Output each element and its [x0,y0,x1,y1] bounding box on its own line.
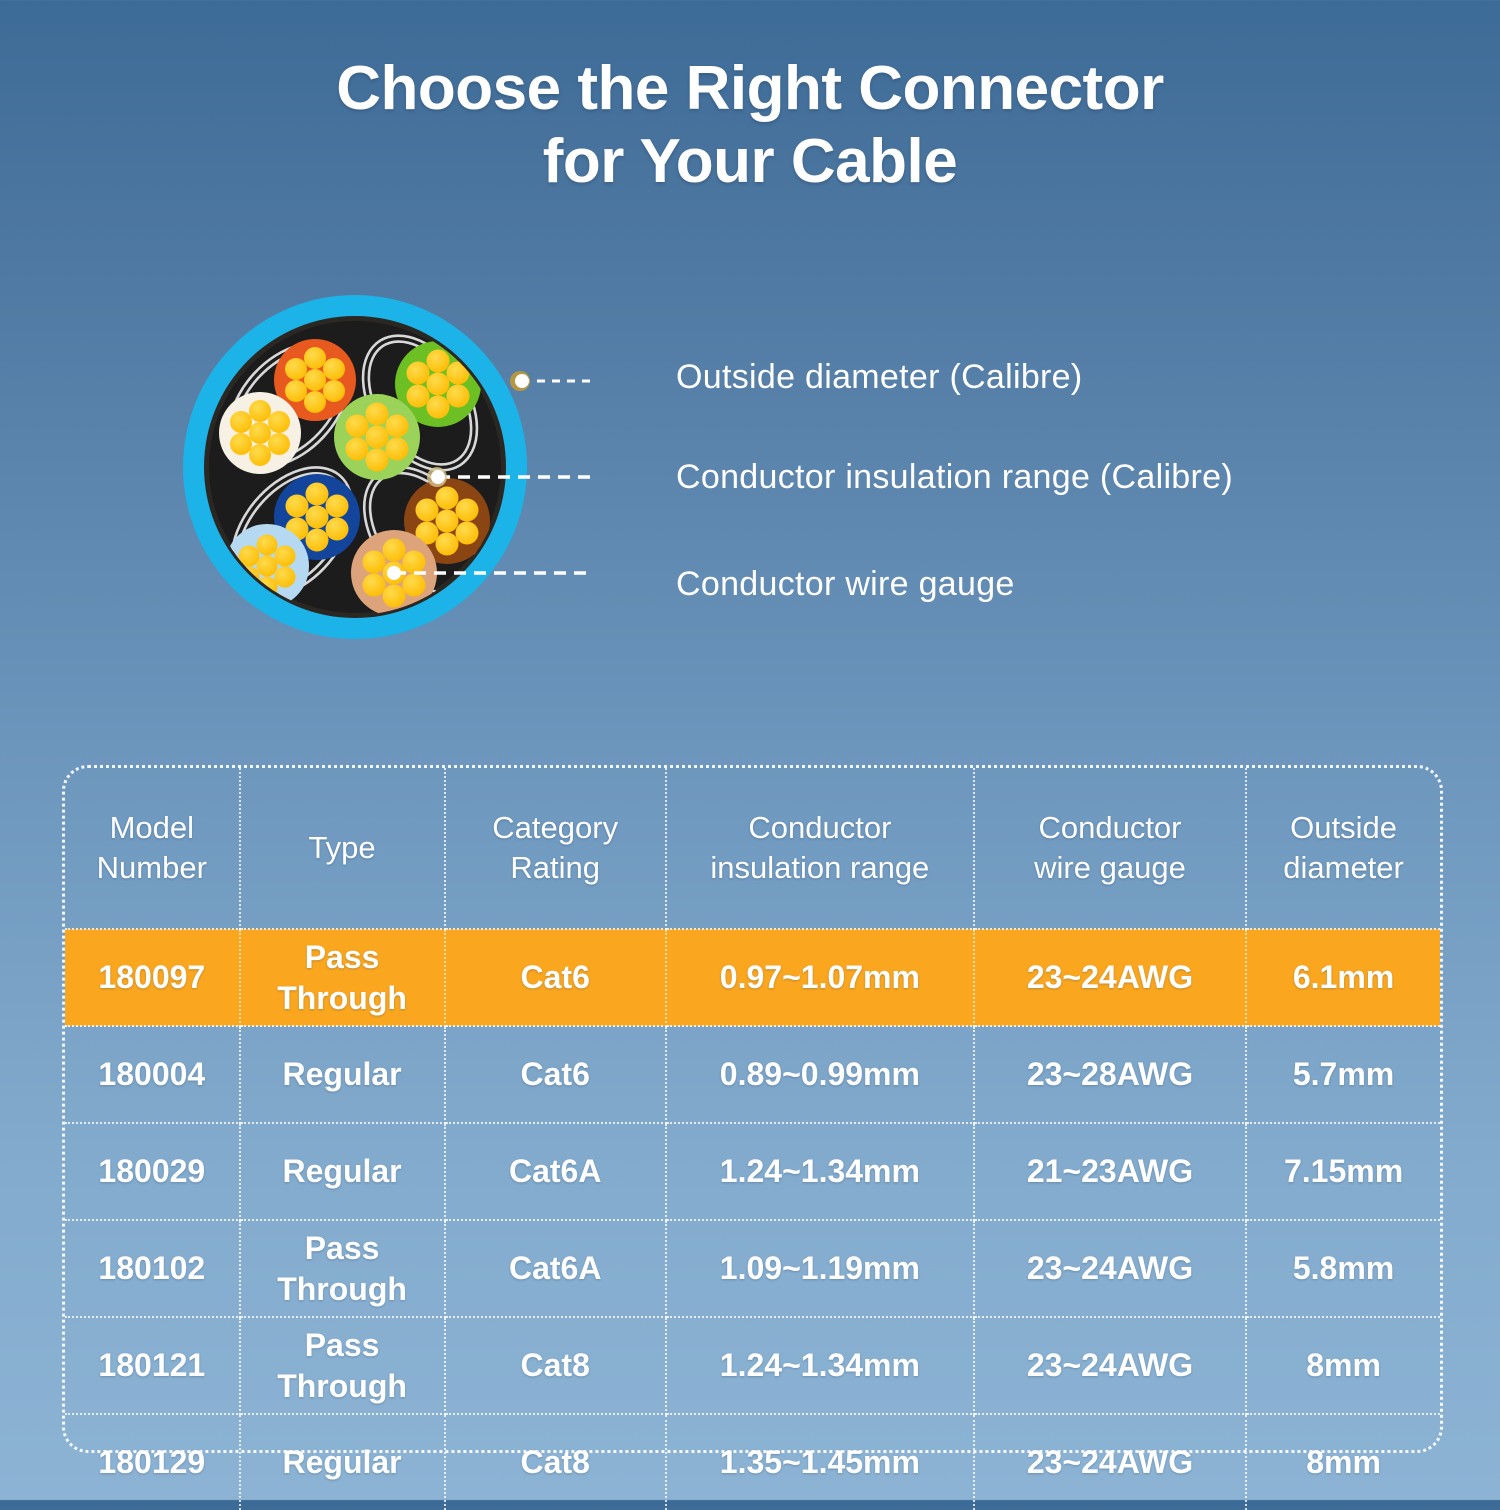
cell-outside-diameter: 8mm [1246,1414,1440,1510]
cell-type: Regular [240,1414,445,1510]
table-row[interactable]: 180102 Pass Through Cat6A 1.09~1.19mm 23… [65,1220,1440,1317]
connector-spec-table: Model Number Type Category Rating Conduc… [62,765,1443,1453]
header-line-2: Number [67,848,237,888]
table-row[interactable]: 180129 Regular Cat8 1.35~1.45mm 23~24AWG… [65,1414,1440,1510]
cell-conductor-wire-gauge: 23~24AWG [974,1414,1246,1510]
callout-conductor-insulation-range: Conductor insulation range (Calibre) [676,458,1233,497]
table-row[interactable]: 180029 Regular Cat6A 1.24~1.34mm 21~23AW… [65,1123,1440,1220]
header-line-2: diameter [1249,848,1438,888]
header-line-1: Model [67,808,237,848]
cell-category-rating: Cat6A [445,1123,666,1220]
page-title: Choose the Right Connector for Your Cabl… [0,52,1500,198]
cell-outside-diameter: 5.7mm [1246,1026,1440,1123]
table-body: 180097 Pass Through Cat6 0.97~1.07mm 23~… [65,929,1440,1510]
callout-conductor-wire-gauge: Conductor wire gauge [676,565,1015,604]
cell-category-rating: Cat6 [445,1026,666,1123]
cable-cross-section-diagram [170,285,590,675]
column-header-outside-diameter: Outside diameter [1246,768,1440,929]
cell-type: Regular [240,1026,445,1123]
cell-outside-diameter: 6.1mm [1246,929,1440,1026]
cell-category-rating: Cat8 [445,1317,666,1414]
cell-outside-diameter: 5.8mm [1246,1220,1440,1317]
column-header-conductor-insulation-range: Conductor insulation range [666,768,974,929]
header-line-2: wire gauge [977,848,1243,888]
cell-type: Pass Through [240,929,445,1026]
callout-outside-diameter: Outside diameter (Calibre) [676,358,1083,397]
column-header-model-number: Model Number [65,768,240,929]
header-line-1: Type [243,828,442,868]
column-header-conductor-wire-gauge: Conductor wire gauge [974,768,1246,929]
cell-type-line-1: Pass [243,1325,442,1366]
diagram-callout-labels: Outside diameter (Calibre) Conductor ins… [676,330,1396,630]
cell-conductor-wire-gauge: 21~23AWG [974,1123,1246,1220]
table-row[interactable]: 180004 Regular Cat6 0.89~0.99mm 23~28AWG… [65,1026,1440,1123]
cell-type: Regular [240,1123,445,1220]
header-line-1: Outside [1249,808,1438,848]
cell-outside-diameter: 8mm [1246,1317,1440,1414]
cell-conductor-insulation-range: 0.97~1.07mm [666,929,974,1026]
cell-model-number: 180121 [65,1317,240,1414]
header-line-1: Conductor [669,808,971,848]
cell-model-number: 180102 [65,1220,240,1317]
page-title-line-2: for Your Cable [0,125,1500,198]
cell-conductor-insulation-range: 1.24~1.34mm [666,1123,974,1220]
column-header-type: Type [240,768,445,929]
cell-conductor-insulation-range: 1.09~1.19mm [666,1220,974,1317]
cell-type-line-1: Regular [243,1442,442,1483]
header-line-1: Conductor [977,808,1243,848]
cell-type-line-1: Regular [243,1054,442,1095]
table-header-row: Model Number Type Category Rating Conduc… [65,768,1440,929]
header-line-2: insulation range [669,848,971,888]
cell-conductor-wire-gauge: 23~28AWG [974,1026,1246,1123]
cell-category-rating: Cat8 [445,1414,666,1510]
cell-type-line-1: Pass [243,937,442,978]
cell-model-number: 180029 [65,1123,240,1220]
cell-model-number: 180129 [65,1414,240,1510]
page-title-line-1: Choose the Right Connector [0,52,1500,125]
column-header-category-rating: Category Rating [445,768,666,929]
cell-type-line-1: Pass [243,1228,442,1269]
cell-type-line-2: Through [243,1269,442,1310]
cell-conductor-wire-gauge: 23~24AWG [974,1220,1246,1317]
table-row[interactable]: 180097 Pass Through Cat6 0.97~1.07mm 23~… [65,929,1440,1026]
cell-type: Pass Through [240,1220,445,1317]
cell-conductor-insulation-range: 1.35~1.45mm [666,1414,974,1510]
cell-conductor-insulation-range: 1.24~1.34mm [666,1317,974,1414]
cell-conductor-wire-gauge: 23~24AWG [974,929,1246,1026]
conductor-white-green [334,394,420,480]
cell-category-rating: Cat6A [445,1220,666,1317]
header-line-1: Category [448,808,663,848]
cell-type-line-2: Through [243,1366,442,1407]
cell-conductor-wire-gauge: 23~24AWG [974,1317,1246,1414]
cell-type: Pass Through [240,1317,445,1414]
table-row[interactable]: 180121 Pass Through Cat8 1.24~1.34mm 23~… [65,1317,1440,1414]
cell-type-line-2: Through [243,978,442,1019]
cell-conductor-insulation-range: 0.89~0.99mm [666,1026,974,1123]
cell-category-rating: Cat6 [445,929,666,1026]
header-line-2: Rating [448,848,663,888]
conductor-white-orange [219,392,301,474]
cell-outside-diameter: 7.15mm [1246,1123,1440,1220]
cell-type-line-1: Regular [243,1151,442,1192]
cell-model-number: 180004 [65,1026,240,1123]
cell-model-number: 180097 [65,929,240,1026]
